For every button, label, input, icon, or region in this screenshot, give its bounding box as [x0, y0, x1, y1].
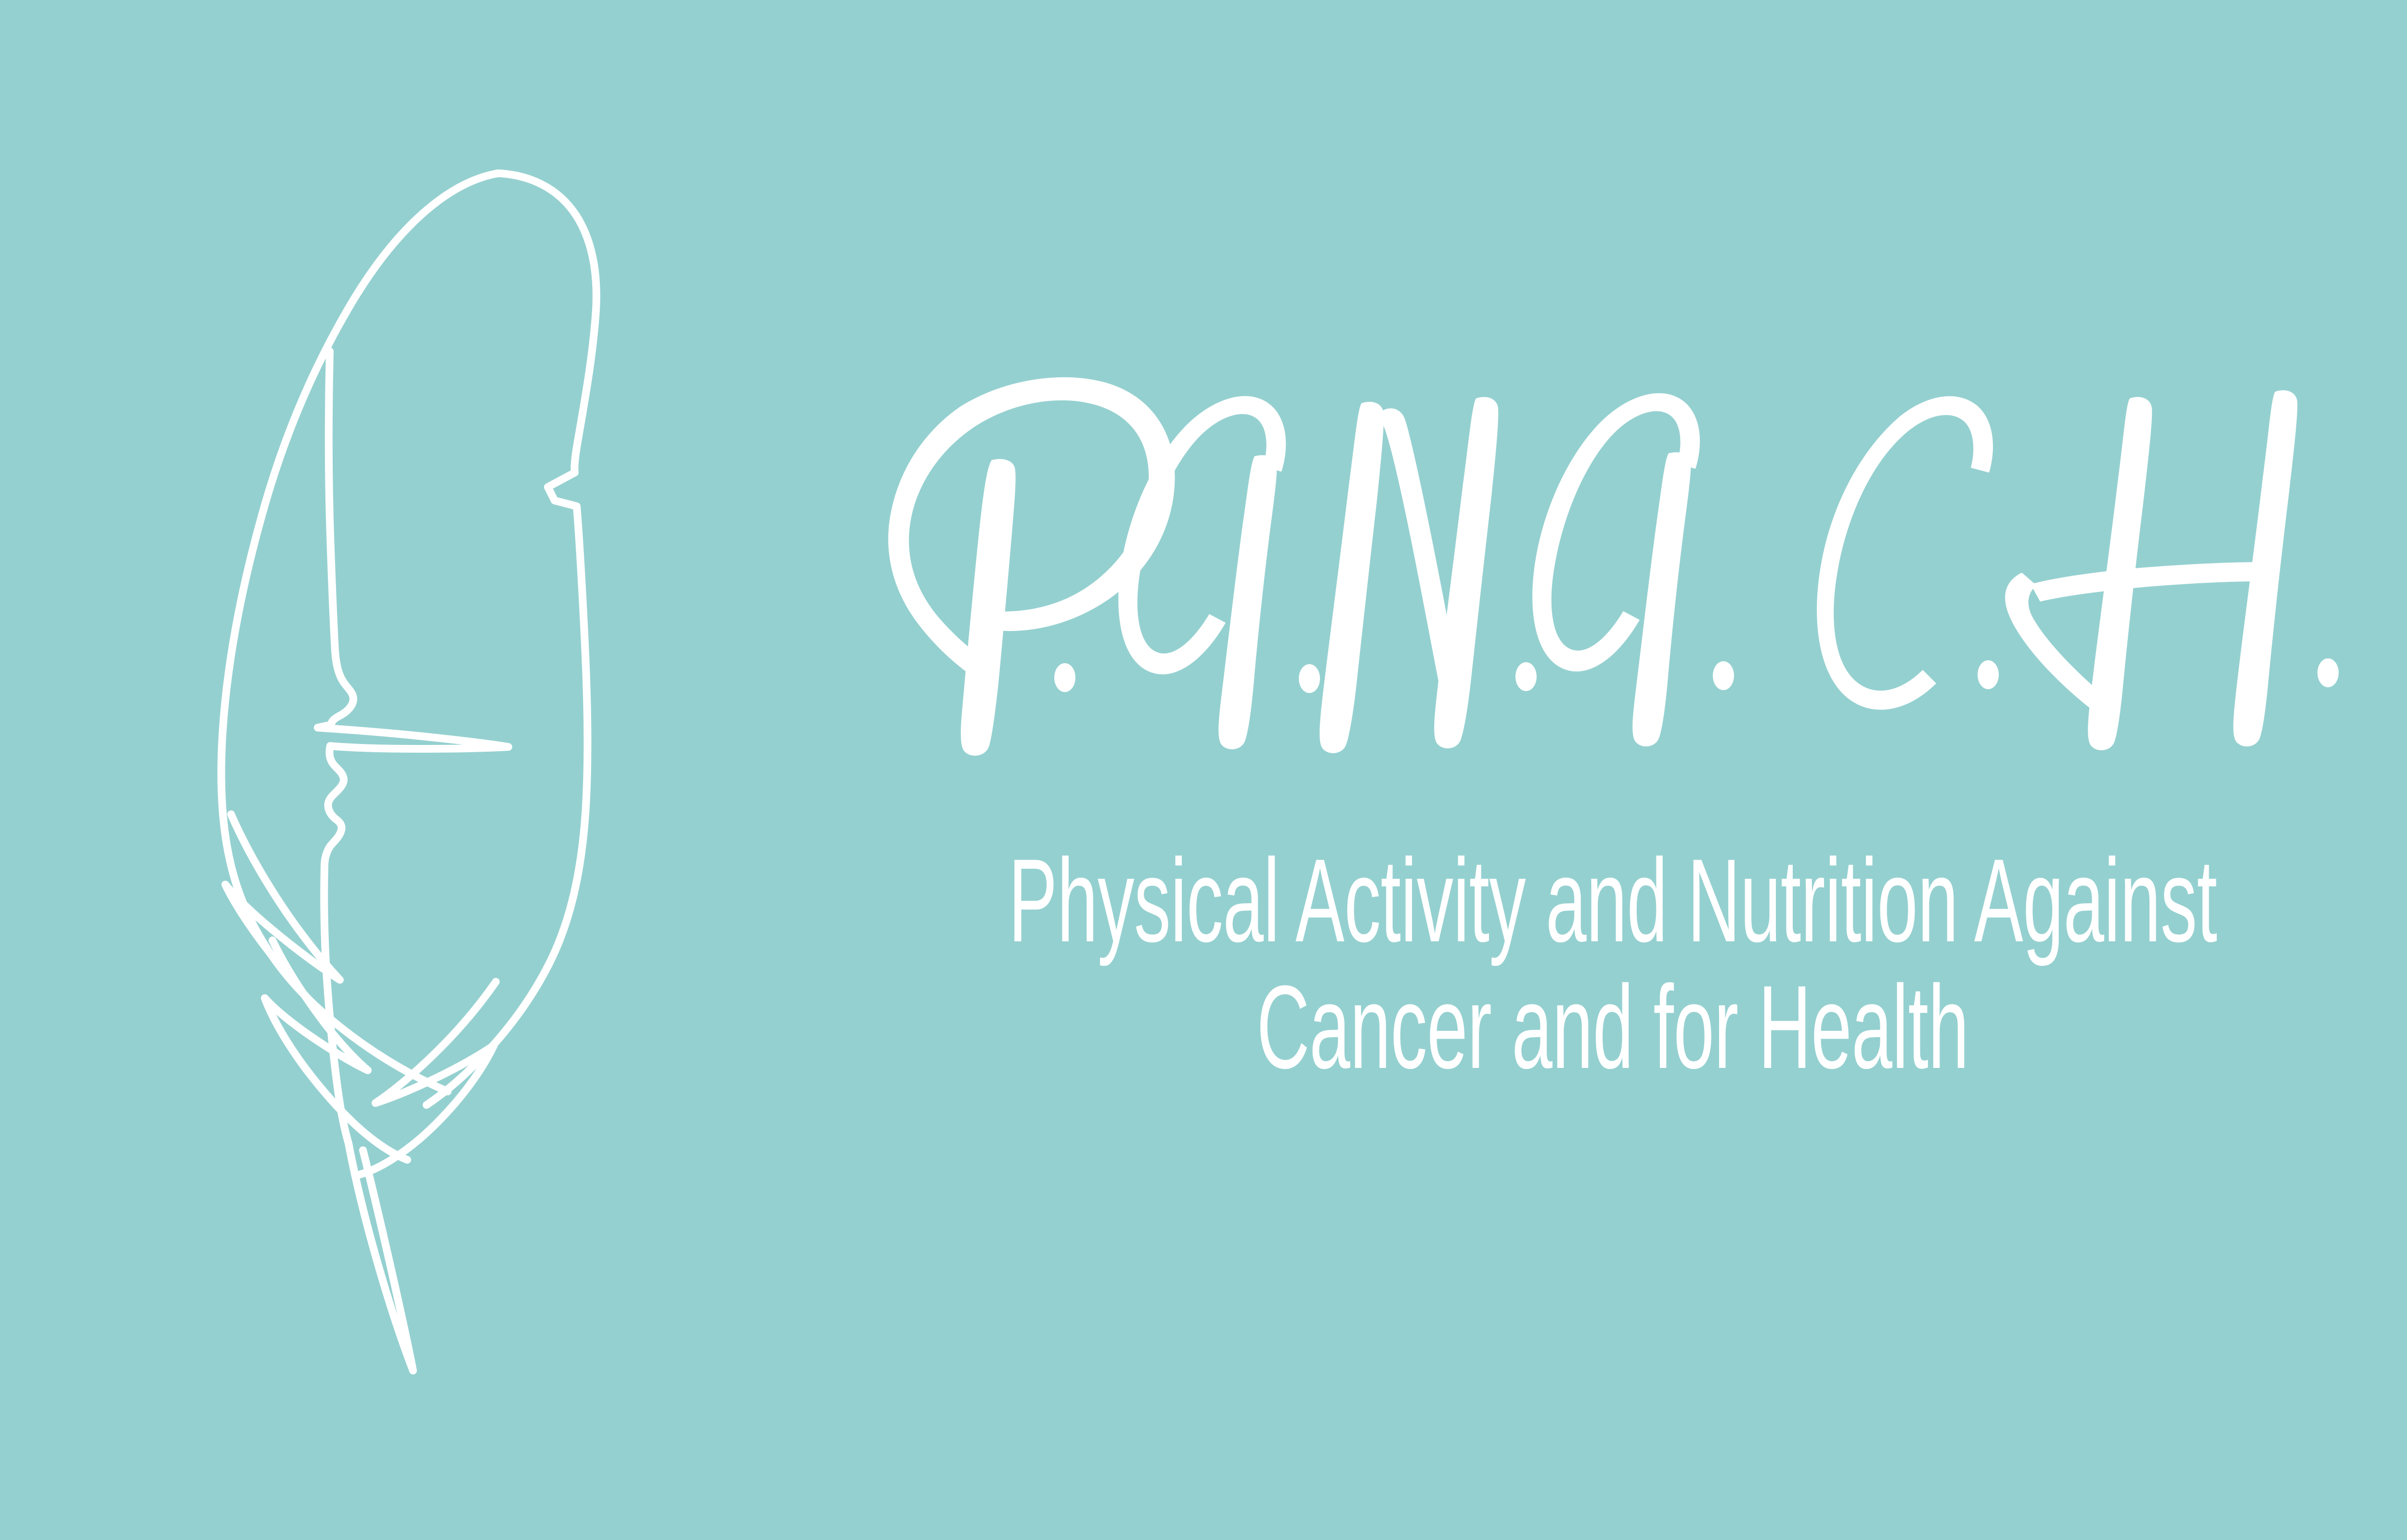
tagline-line-1: Physical Activity and Nutrition Against — [956, 837, 2269, 964]
brand-tagline: Physical Activity and Nutrition Against … — [554, 837, 2407, 1091]
logo-canvas: P.A.N.A.C.H. — [0, 0, 2407, 1540]
tagline-line-2: Cancer and for Health — [956, 964, 2269, 1091]
brand-wordmark: P.A.N.A.C.H. — [847, 371, 2407, 760]
feather-icon — [159, 144, 640, 1396]
